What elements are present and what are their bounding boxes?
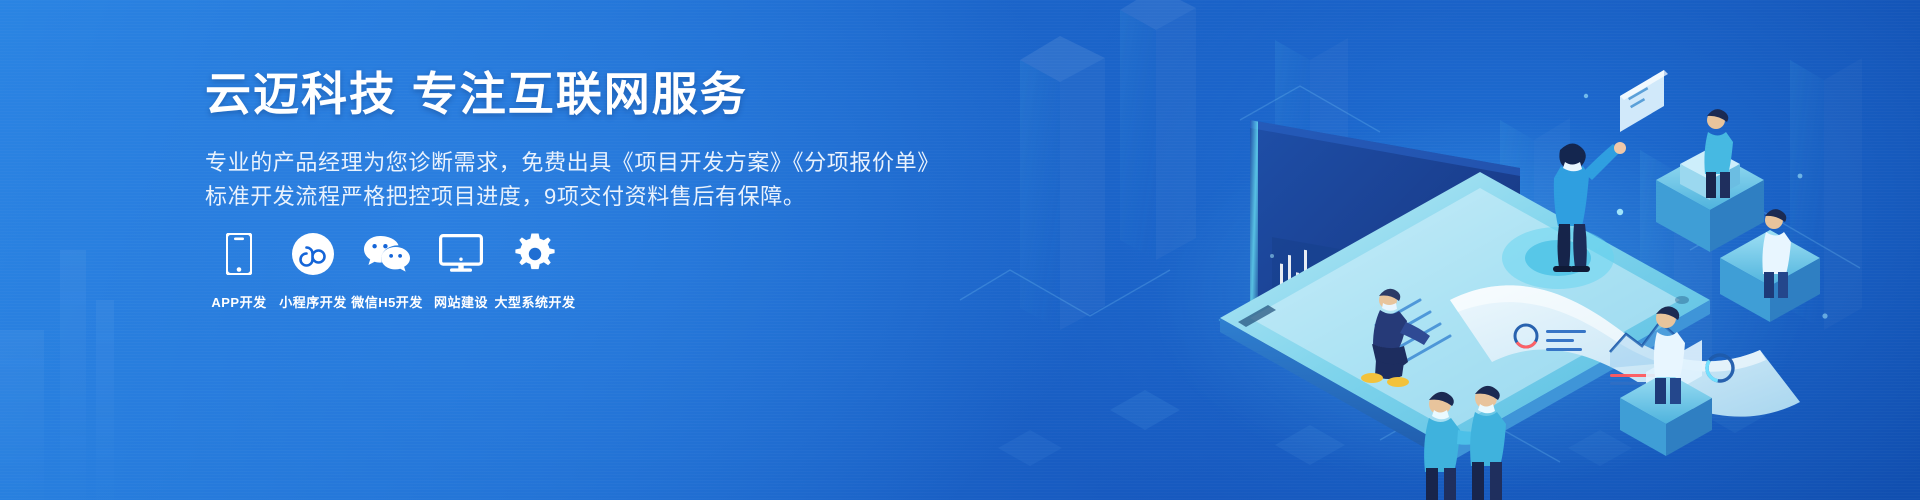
- service-label: 微信H5开发: [351, 292, 423, 311]
- service-list: APP开发 小程序开发 微信: [203, 232, 573, 311]
- service-item-wechat-h5[interactable]: 微信H5开发: [351, 232, 423, 311]
- isometric-data-dashboard-illustration: [920, 0, 1920, 500]
- service-item-large-system[interactable]: 大型系统开发: [499, 232, 571, 311]
- gear-icon: [514, 232, 556, 276]
- mini-program-icon: [292, 232, 334, 276]
- service-item-app[interactable]: APP开发: [203, 232, 275, 311]
- hero-subtitle: 专业的产品经理为您诊断需求，免费出具《项目开发方案》《分项报价单》 标准开发流程…: [205, 146, 905, 214]
- desktop-monitor-icon: [439, 232, 483, 276]
- service-item-mini-program[interactable]: 小程序开发: [277, 232, 349, 311]
- service-label: APP开发: [211, 292, 266, 311]
- hero-copy: 云迈科技 专注互联网服务 专业的产品经理为您诊断需求，免费出具《项目开发方案》《…: [205, 66, 905, 214]
- service-label: 大型系统开发: [495, 292, 576, 311]
- wechat-icon: [363, 232, 411, 276]
- page-title: 云迈科技 专注互联网服务: [205, 66, 905, 124]
- subtitle-line-2: 标准开发流程严格把控项目进度，9项交付资料售后有保障。: [205, 180, 905, 214]
- subtitle-line-1: 专业的产品经理为您诊断需求，免费出具《项目开发方案》《分项报价单》: [205, 146, 905, 180]
- hero-banner: 云迈科技 专注互联网服务 专业的产品经理为您诊断需求，免费出具《项目开发方案》《…: [0, 0, 1920, 500]
- service-label: 小程序开发: [279, 292, 347, 311]
- service-item-website[interactable]: 网站建设: [425, 232, 497, 311]
- service-label: 网站建设: [434, 292, 488, 311]
- mobile-phone-icon: [226, 232, 252, 276]
